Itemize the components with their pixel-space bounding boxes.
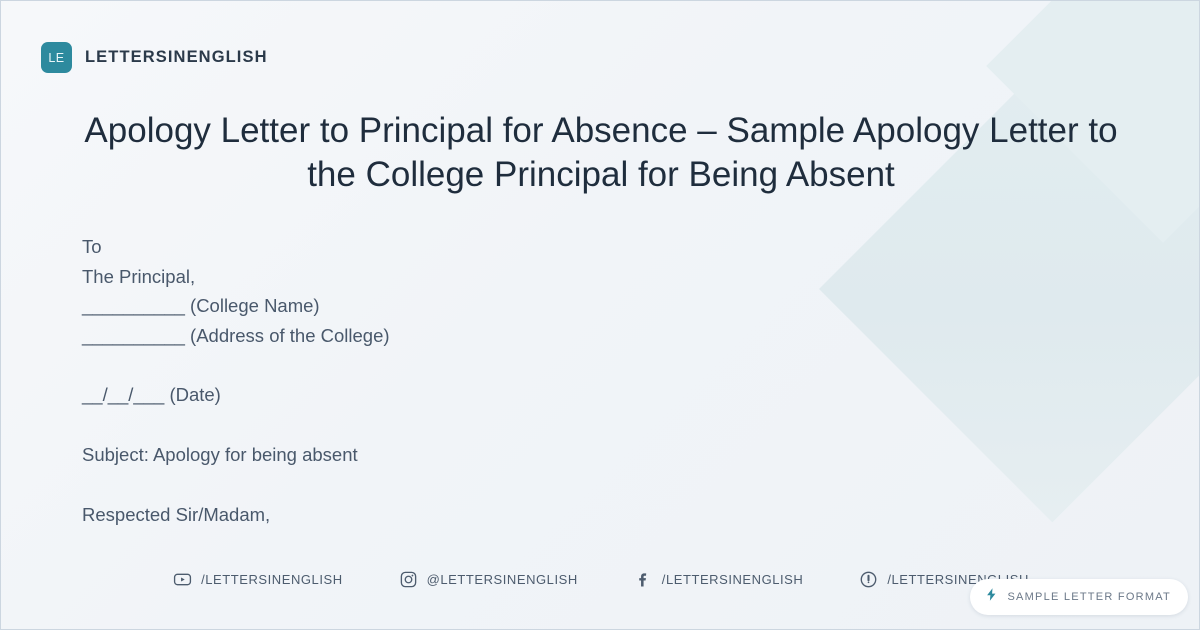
letter-line-salutation: Respected Sir/Madam, — [82, 500, 390, 530]
instagram-icon — [399, 570, 418, 589]
social-link-facebook[interactable]: /LETTERSINENGLISH — [634, 570, 804, 589]
letter-line-recipient: The Principal, — [82, 262, 390, 292]
brand-mark-icon: LE — [41, 42, 72, 73]
social-handle: /LETTERSINENGLISH — [201, 572, 343, 587]
status-badge[interactable]: SAMPLE LETTER FORMAT — [970, 579, 1188, 615]
letter-line-date: __/__/___ (Date) — [82, 380, 390, 410]
facebook-icon — [634, 570, 653, 589]
lightning-bolt-icon — [984, 587, 999, 607]
social-handle: /LETTERSINENGLISH — [662, 572, 804, 587]
brand-mark-text: LE — [48, 51, 64, 65]
letter-spacer — [82, 410, 390, 440]
social-link-instagram[interactable]: @LETTERSINENGLISH — [399, 570, 578, 589]
poster-canvas: LE LETTERSINENGLISH Apology Letter to Pr… — [0, 0, 1200, 630]
social-handle: @LETTERSINENGLISH — [427, 572, 578, 587]
letter-spacer — [82, 350, 390, 380]
youtube-icon — [173, 570, 192, 589]
letter-body: To The Principal, __________ (College Na… — [82, 232, 390, 529]
badge-label: SAMPLE LETTER FORMAT — [1007, 591, 1171, 603]
letter-spacer — [82, 470, 390, 500]
letter-line-college-address: __________ (Address of the College) — [82, 321, 390, 351]
pinterest-icon — [859, 570, 878, 589]
social-link-youtube[interactable]: /LETTERSINENGLISH — [173, 570, 343, 589]
brand-name-label: LETTERSINENGLISH — [85, 48, 268, 67]
letter-line-subject: Subject: Apology for being absent — [82, 440, 390, 470]
letter-line-college-name: __________ (College Name) — [82, 291, 390, 321]
brand-logo[interactable]: LE LETTERSINENGLISH — [41, 42, 268, 73]
page-title: Apology Letter to Principal for Absence … — [61, 109, 1141, 197]
letter-line-to: To — [82, 232, 390, 262]
